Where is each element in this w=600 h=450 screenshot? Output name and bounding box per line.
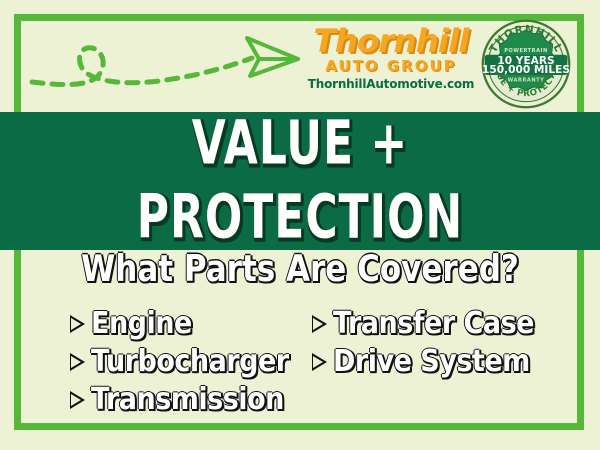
parts-column-left: Engine Turbocharger Transmission [70, 305, 289, 419]
triangle-bullet-icon [70, 353, 85, 371]
triangle-bullet-icon [70, 315, 85, 333]
list-item: Transmission [70, 381, 289, 419]
parts-column-right: Transfer Case Drive System [312, 305, 534, 381]
list-item: Transfer Case [312, 305, 534, 343]
covered-parts-question: What Parts Are Covered? [0, 249, 600, 289]
badge-miles-text: 150,000 MILES [482, 64, 570, 76]
logo-website-url: ThornhillAutomotive.com [305, 77, 477, 92]
headline-block: VALUE + PROTECTION [0, 112, 600, 250]
triangle-bullet-icon [312, 353, 327, 371]
advertisement-banner: Thornhill AUTO GROUP ThornhillAutomotive… [0, 0, 600, 450]
logo-subtitle: AUTO GROUP [305, 58, 477, 75]
part-label: Turbocharger [91, 346, 289, 377]
part-label: Engine [91, 308, 192, 339]
badge-warranty-text: WARRANTY [508, 77, 545, 83]
dashed-loop-arrow-icon [26, 26, 306, 106]
part-label: Transfer Case [333, 308, 534, 339]
logo-brand-name: Thornhill [303, 24, 478, 58]
list-item: Engine [70, 305, 289, 343]
warranty-seal-badge: THORNHILL VALUE + PROTECTION POWERTRAIN … [480, 18, 572, 110]
headline-line-2: PROTECTION [137, 188, 464, 249]
triangle-bullet-icon [70, 391, 85, 409]
covered-parts-list: Engine Turbocharger Transmission Transfe… [30, 305, 570, 420]
triangle-bullet-icon [312, 315, 327, 333]
thornhill-logo: Thornhill AUTO GROUP ThornhillAutomotive… [305, 24, 477, 106]
part-label: Drive System [333, 346, 530, 377]
headline-line-1: VALUE + [192, 114, 409, 175]
badge-powertrain-text: POWERTRAIN [504, 48, 548, 54]
list-item: Turbocharger [70, 343, 289, 381]
part-label: Transmission [91, 384, 284, 415]
list-item: Drive System [312, 343, 534, 381]
